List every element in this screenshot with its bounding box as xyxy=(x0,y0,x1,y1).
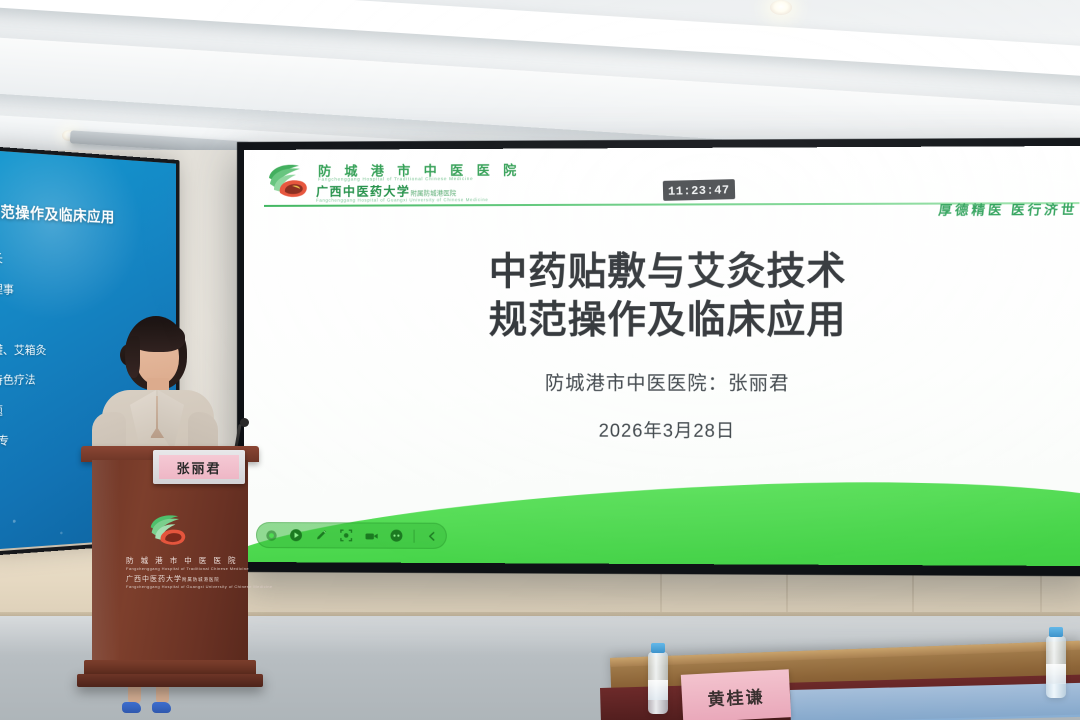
slide-subtitle: 防城港市中医医院：张丽君 xyxy=(244,368,1080,396)
foreground-display-row xyxy=(790,683,1080,720)
podium: 张丽君 防 城 港 市 中 医 医 院 Fangchenggang Hospit… xyxy=(84,446,256,704)
slide-green-band xyxy=(244,467,1080,566)
hair-side xyxy=(125,336,140,378)
hospital-logo-icon xyxy=(148,512,190,548)
hospital-logo-icon xyxy=(266,162,312,200)
podium-nameplate-text: 张丽君 xyxy=(176,458,221,477)
bottle-cap xyxy=(1049,627,1063,637)
power-icon[interactable] xyxy=(263,527,279,543)
bottle-label xyxy=(648,680,668,700)
podium-logo-org-en2: Fangchenggang Hospital of Guangxi Univer… xyxy=(126,584,212,589)
projector-toolbar[interactable] xyxy=(256,522,447,549)
water-bottle xyxy=(1046,636,1066,698)
attendee-name-text: 黄桂谦 xyxy=(707,682,765,710)
podium-logo-org-en: Fangchenggang Hospital of Traditional Ch… xyxy=(126,566,212,571)
play-icon[interactable] xyxy=(288,527,304,543)
downlight-icon xyxy=(770,0,792,15)
podium-nameplate-holder: 张丽君 xyxy=(153,450,245,484)
conference-hall-scene: 艾灸技术的规范操作及临床应用 妇产科一病区护士长 学会第一届理事会理事 医护理骨… xyxy=(0,0,1080,720)
slide-motto: 厚德精医 医行济世 xyxy=(937,199,1078,219)
water-bottle xyxy=(648,652,668,714)
clock-overlay: 11:23:47 xyxy=(663,179,735,201)
slide-logo-org-en2: Fangchenggang Hospital of Guangxi Univer… xyxy=(316,197,488,203)
podium-logo: 防 城 港 市 中 医 医 院 Fangchenggang Hospital o… xyxy=(126,512,212,588)
podium-foot xyxy=(77,674,263,687)
podium-logo-org-cn2: 广西中医药大学附属防城港医院 xyxy=(126,574,212,584)
microphone-icon xyxy=(240,418,249,427)
bottle-cap xyxy=(651,643,665,653)
attendee-name-card: 黄桂谦 xyxy=(681,669,791,720)
slide-logo-org-en: Fangchenggang Hospital of Traditional Ch… xyxy=(318,176,473,182)
slide-title-line2: 规范操作及临床应用 xyxy=(244,297,1080,346)
slide-title: 中药贴敷与艾灸技术 规范操作及临床应用 xyxy=(244,248,1080,346)
collapse-chevron-icon[interactable] xyxy=(424,528,440,544)
camera-icon[interactable] xyxy=(363,527,379,543)
slide-header-logo: 防 城 港 市 中 医 医 院 Fangchenggang Hospital o… xyxy=(266,157,507,204)
clock-time: 11:23:47 xyxy=(668,183,730,199)
left-screen-line: 学会第一届理事会理事 xyxy=(0,282,176,299)
bottle-label xyxy=(1046,664,1066,684)
toolbar-separator xyxy=(414,529,415,542)
podium-logo-org-cn: 防 城 港 市 中 医 医 院 xyxy=(126,555,212,566)
slide-title-line1: 中药贴敷与艾灸技术 xyxy=(244,248,1080,298)
podium-nameplate-card: 张丽君 xyxy=(159,455,239,479)
slide-date: 2026年3月28日 xyxy=(244,416,1080,444)
focus-icon[interactable] xyxy=(338,527,354,543)
main-projection-screen[interactable]: 防 城 港 市 中 医 医 院 Fangchenggang Hospital o… xyxy=(244,146,1080,566)
more-icon[interactable] xyxy=(388,528,404,544)
pencil-icon[interactable] xyxy=(313,527,329,543)
